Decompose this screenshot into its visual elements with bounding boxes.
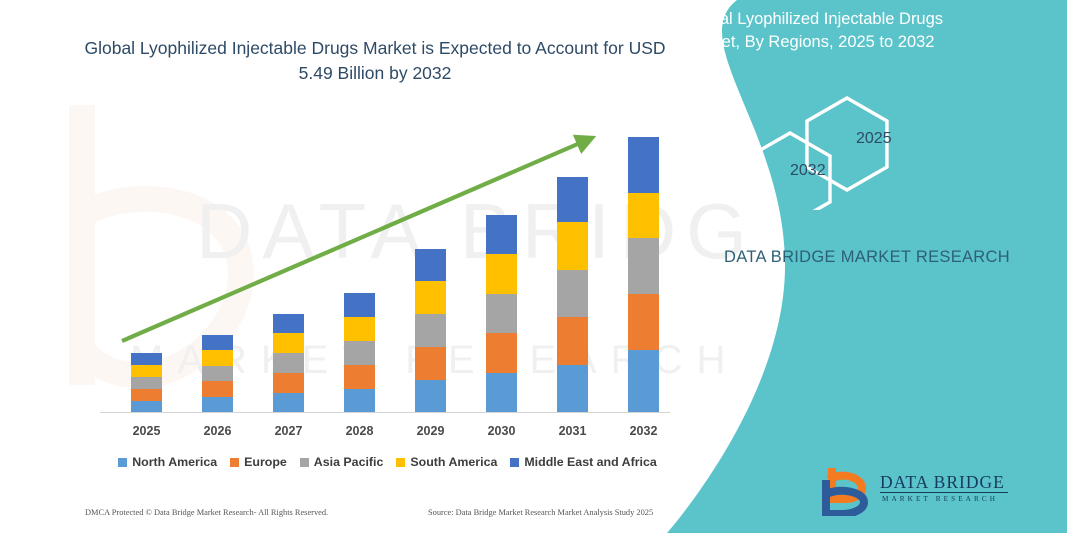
- chart-panel: DATA BRIDGE MARKET RESEARCH Global Lyoph…: [0, 0, 760, 533]
- bar-segment: [486, 215, 517, 254]
- legend-swatch-icon: [510, 458, 519, 467]
- bar-segment: [202, 397, 233, 413]
- chart-title: Global Lyophilized Injectable Drugs Mark…: [80, 36, 670, 87]
- plot-area: [100, 120, 670, 413]
- bar-segment: [202, 366, 233, 381]
- x-axis-label-2027: 2027: [259, 424, 319, 438]
- legend-item[interactable]: Europe: [230, 455, 287, 469]
- bar-segment: [202, 350, 233, 366]
- footer-copyright: DMCA Protected © Data Bridge Market Rese…: [85, 508, 328, 517]
- bar-segment: [415, 347, 446, 380]
- bar-segment: [344, 365, 375, 389]
- legend-swatch-icon: [396, 458, 405, 467]
- chart-legend: North AmericaEuropeAsia PacificSouth Ame…: [100, 455, 675, 469]
- bar-segment: [557, 222, 588, 270]
- footer-source: Source: Data Bridge Market Research Mark…: [428, 508, 653, 517]
- bar-segment: [486, 373, 517, 413]
- bar-segment: [628, 137, 659, 193]
- bar-segment: [628, 193, 659, 238]
- bar-segment: [273, 314, 304, 333]
- bar-segment: [628, 350, 659, 413]
- bar-segment: [557, 365, 588, 413]
- logo-name: DATA BRIDGE: [880, 472, 1005, 493]
- bar-segment: [486, 294, 517, 333]
- x-axis-label-2032: 2032: [614, 424, 674, 438]
- bar-2027[interactable]: [273, 314, 304, 413]
- x-axis-label-2028: 2028: [330, 424, 390, 438]
- bar-segment: [273, 393, 304, 413]
- bar-segment: [202, 381, 233, 397]
- bar-segment: [131, 377, 162, 389]
- x-axis-label-2026: 2026: [188, 424, 248, 438]
- bar-segment: [344, 341, 375, 365]
- legend-label: North America: [132, 455, 217, 469]
- bar-segment: [415, 249, 446, 281]
- legend-item[interactable]: North America: [118, 455, 217, 469]
- legend-item[interactable]: Asia Pacific: [300, 455, 384, 469]
- legend-swatch-icon: [230, 458, 239, 467]
- bar-segment: [628, 238, 659, 294]
- logo-mark-icon: [822, 468, 880, 516]
- bar-segment: [273, 373, 304, 393]
- bar-segment: [486, 333, 517, 373]
- brand-text: DATA BRIDGE MARKET RESEARCH: [697, 245, 1037, 270]
- hexagon-2032-label: 2032: [790, 162, 826, 180]
- bar-2026[interactable]: [202, 335, 233, 413]
- bar-segment: [273, 333, 304, 353]
- logo-subtitle: MARKET RESEARCH: [882, 495, 998, 503]
- bar-2030[interactable]: [486, 215, 517, 413]
- bar-segment: [557, 177, 588, 222]
- bar-segment: [415, 314, 446, 347]
- logo-divider: [880, 492, 1008, 493]
- bar-segment: [344, 389, 375, 413]
- x-axis-label-2031: 2031: [543, 424, 603, 438]
- axis-baseline: [100, 412, 670, 413]
- bar-segment: [415, 281, 446, 314]
- bar-segment: [486, 254, 517, 294]
- bar-segment: [344, 293, 375, 317]
- bar-segment: [628, 294, 659, 350]
- hexagon-2025-label: 2025: [856, 130, 892, 148]
- legend-label: Middle East and Africa: [524, 455, 656, 469]
- x-axis-label-2025: 2025: [117, 424, 177, 438]
- x-axis-label-2029: 2029: [401, 424, 461, 438]
- hexagon-badges: [742, 95, 942, 210]
- bar-segment: [557, 270, 588, 317]
- legend-label: Europe: [244, 455, 287, 469]
- bar-segment: [131, 365, 162, 377]
- legend-label: South America: [410, 455, 497, 469]
- side-panel: Global Lyophilized Injectable Drugs Mark…: [667, 0, 1067, 533]
- bar-segment: [415, 380, 446, 413]
- bar-segment: [131, 389, 162, 401]
- bar-segment: [273, 353, 304, 373]
- bar-2025[interactable]: [131, 353, 162, 413]
- x-axis-label-2030: 2030: [472, 424, 532, 438]
- bar-2031[interactable]: [557, 177, 588, 413]
- bar-segment: [557, 317, 588, 365]
- bar-segment: [344, 317, 375, 341]
- bar-2032[interactable]: [628, 137, 659, 413]
- bar-2028[interactable]: [344, 293, 375, 413]
- company-logo: DATA BRIDGE MARKET RESEARCH: [822, 468, 1062, 518]
- bar-segment: [202, 335, 233, 350]
- legend-swatch-icon: [300, 458, 309, 467]
- bar-segment: [131, 353, 162, 365]
- legend-label: Asia Pacific: [314, 455, 384, 469]
- legend-item[interactable]: Middle East and Africa: [510, 455, 656, 469]
- side-panel-title: Global Lyophilized Injectable Drugs Mark…: [685, 8, 985, 55]
- bar-2029[interactable]: [415, 249, 446, 413]
- legend-item[interactable]: South America: [396, 455, 497, 469]
- legend-swatch-icon: [118, 458, 127, 467]
